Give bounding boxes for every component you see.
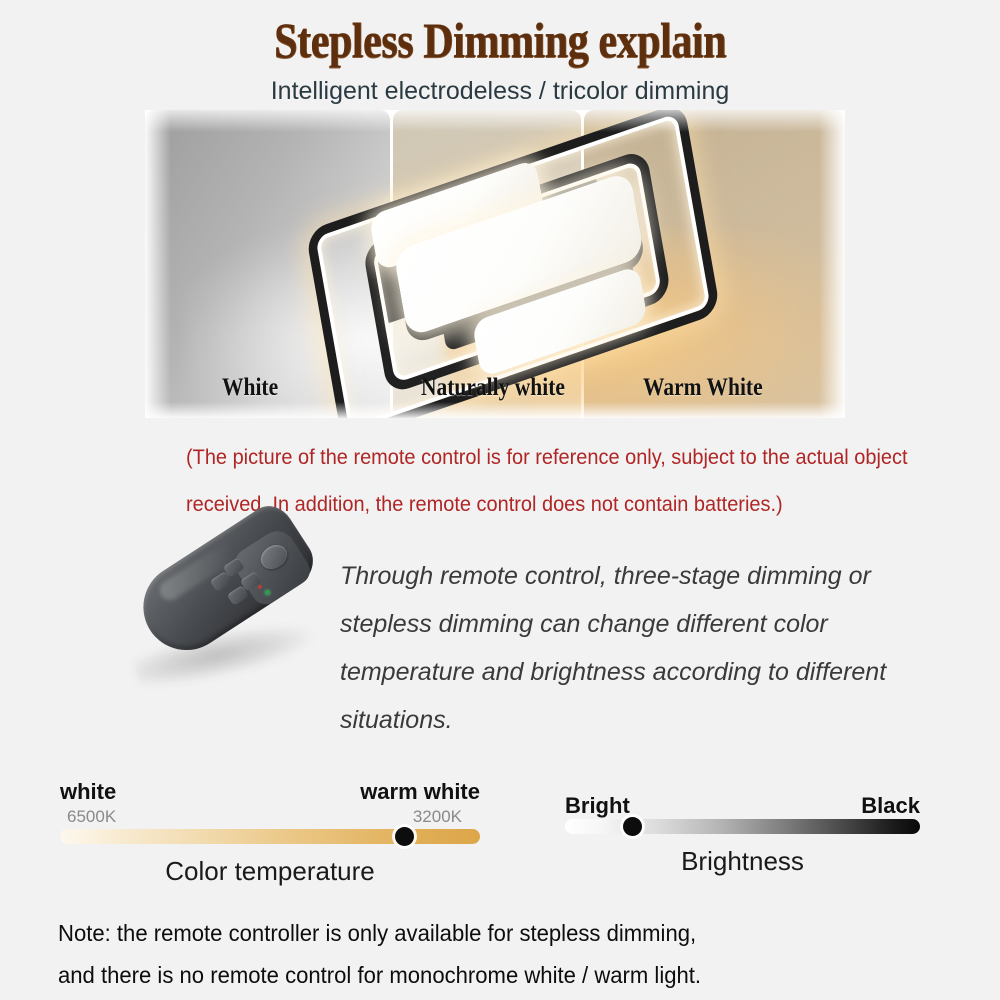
brightness-caption: Brightness: [565, 846, 920, 876]
feature-paragraph: Through remote control, three-stage dimm…: [340, 552, 960, 744]
panel-label-warm-white: Warm White: [643, 374, 763, 402]
panel-label-naturally-white: Naturally white: [421, 374, 565, 402]
page-subtitle: Intelligent electrodeless / tricolor dim…: [0, 76, 1000, 106]
color-temperature-label-warm-white: warm white: [360, 779, 480, 805]
brightness-track[interactable]: [565, 819, 920, 834]
bottom-note: Note: the remote controller is only avai…: [58, 912, 884, 996]
remote-led-red: [258, 585, 262, 589]
brightness-slider-group: Bright Black Brightness: [565, 793, 920, 876]
color-temperature-track[interactable]: [60, 829, 480, 844]
color-temperature-value-3200k: 3200K: [413, 805, 462, 829]
page-title: Stepless Dimming explain: [80, 12, 920, 68]
bottom-note-line-1: Note: the remote controller is only avai…: [58, 912, 884, 954]
remote-led-green: [265, 590, 270, 595]
color-temperature-label-white: white: [60, 779, 116, 805]
color-temperature-value-6500k: 6500K: [67, 805, 116, 829]
lamp-comparison-photo: White Naturally white Warm White: [145, 110, 845, 418]
color-temperature-knob[interactable]: [395, 827, 414, 846]
brightness-label-bright: Bright: [565, 793, 630, 819]
remote-disclaimer: (The picture of the remote control is fo…: [186, 434, 946, 528]
color-temperature-caption: Color temperature: [60, 856, 480, 886]
color-temperature-kelvin-values: 6500K 3200K: [60, 805, 480, 829]
remote-control-illustration: [112, 523, 332, 713]
brightness-label-black: Black: [861, 793, 920, 819]
brightness-knob[interactable]: [623, 817, 642, 836]
color-temperature-slider-group: white warm white 6500K 3200K Color tempe…: [60, 779, 480, 886]
brightness-endpoint-labels: Bright Black: [565, 793, 920, 819]
panel-label-white: White: [222, 374, 278, 402]
bottom-note-line-2: and there is no remote control for monoc…: [58, 954, 884, 996]
color-temperature-endpoint-labels: white warm white: [60, 779, 480, 805]
